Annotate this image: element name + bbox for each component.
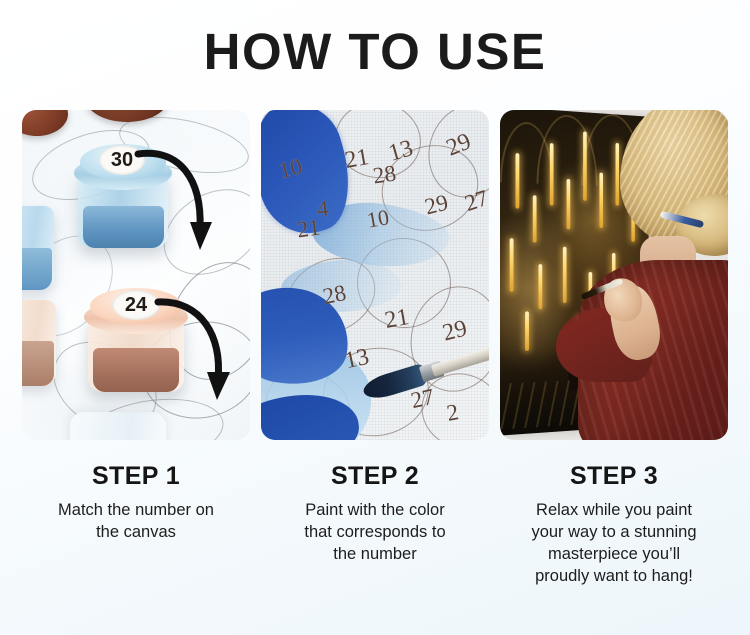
step-column-3: STEP 3 Relax while you paint your way to…	[500, 110, 728, 588]
candle-light	[510, 238, 514, 292]
paint-pot-partial	[70, 412, 166, 440]
paint-pot-24: 24	[88, 288, 184, 404]
candle-light	[538, 264, 542, 309]
page-title: HOW TO USE	[0, 22, 750, 81]
step-2-label: STEP 2	[261, 462, 489, 491]
canvas-number: 28	[371, 161, 397, 190]
step-3-image	[500, 110, 728, 440]
paint-pot-partial	[22, 300, 56, 386]
candle-light	[567, 179, 571, 229]
step-2-description: Paint with the color that corresponds to…	[261, 500, 489, 566]
canvas-number: 21	[295, 215, 321, 244]
paint-pot-30: 30	[78, 144, 168, 252]
canvas-number: 21	[383, 304, 411, 335]
candle-light	[550, 143, 554, 206]
paint-pot-partial	[22, 206, 54, 290]
step-column-1: 30 24	[22, 110, 250, 588]
candle-light	[583, 131, 587, 200]
canvas-number: 21	[343, 144, 371, 175]
step-2-caption: STEP 2 Paint with the color that corresp…	[261, 462, 489, 566]
candle-light	[533, 195, 537, 242]
step-1-caption: STEP 1 Match the number on the canvas	[22, 462, 250, 544]
candle-light	[599, 173, 603, 229]
candle-light	[525, 311, 529, 351]
step-1-label: STEP 1	[22, 462, 250, 491]
step-1-description: Match the number on the canvas	[22, 500, 250, 544]
step-1-image: 30 24	[22, 110, 250, 440]
step-column-2: 10 21 13 28 29 4 10 29 27 21 28 13 29 2 …	[261, 110, 489, 588]
pot-number-label: 24	[112, 290, 160, 320]
how-to-use-page: HOW TO USE	[0, 0, 750, 635]
step-3-description: Relax while you paint your way to a stun…	[500, 500, 728, 588]
candle-light	[515, 153, 519, 209]
candle-light	[615, 143, 619, 206]
candle-light	[563, 247, 567, 303]
step-2-image: 10 21 13 28 29 4 10 29 27 21 28 13 29 2 …	[261, 110, 489, 440]
steps-row: 30 24	[22, 110, 728, 588]
step-3-label: STEP 3	[500, 462, 728, 491]
canvas-number: 10	[365, 204, 391, 233]
pot-number-label: 30	[99, 145, 145, 175]
step-3-caption: STEP 3 Relax while you paint your way to…	[500, 462, 728, 588]
